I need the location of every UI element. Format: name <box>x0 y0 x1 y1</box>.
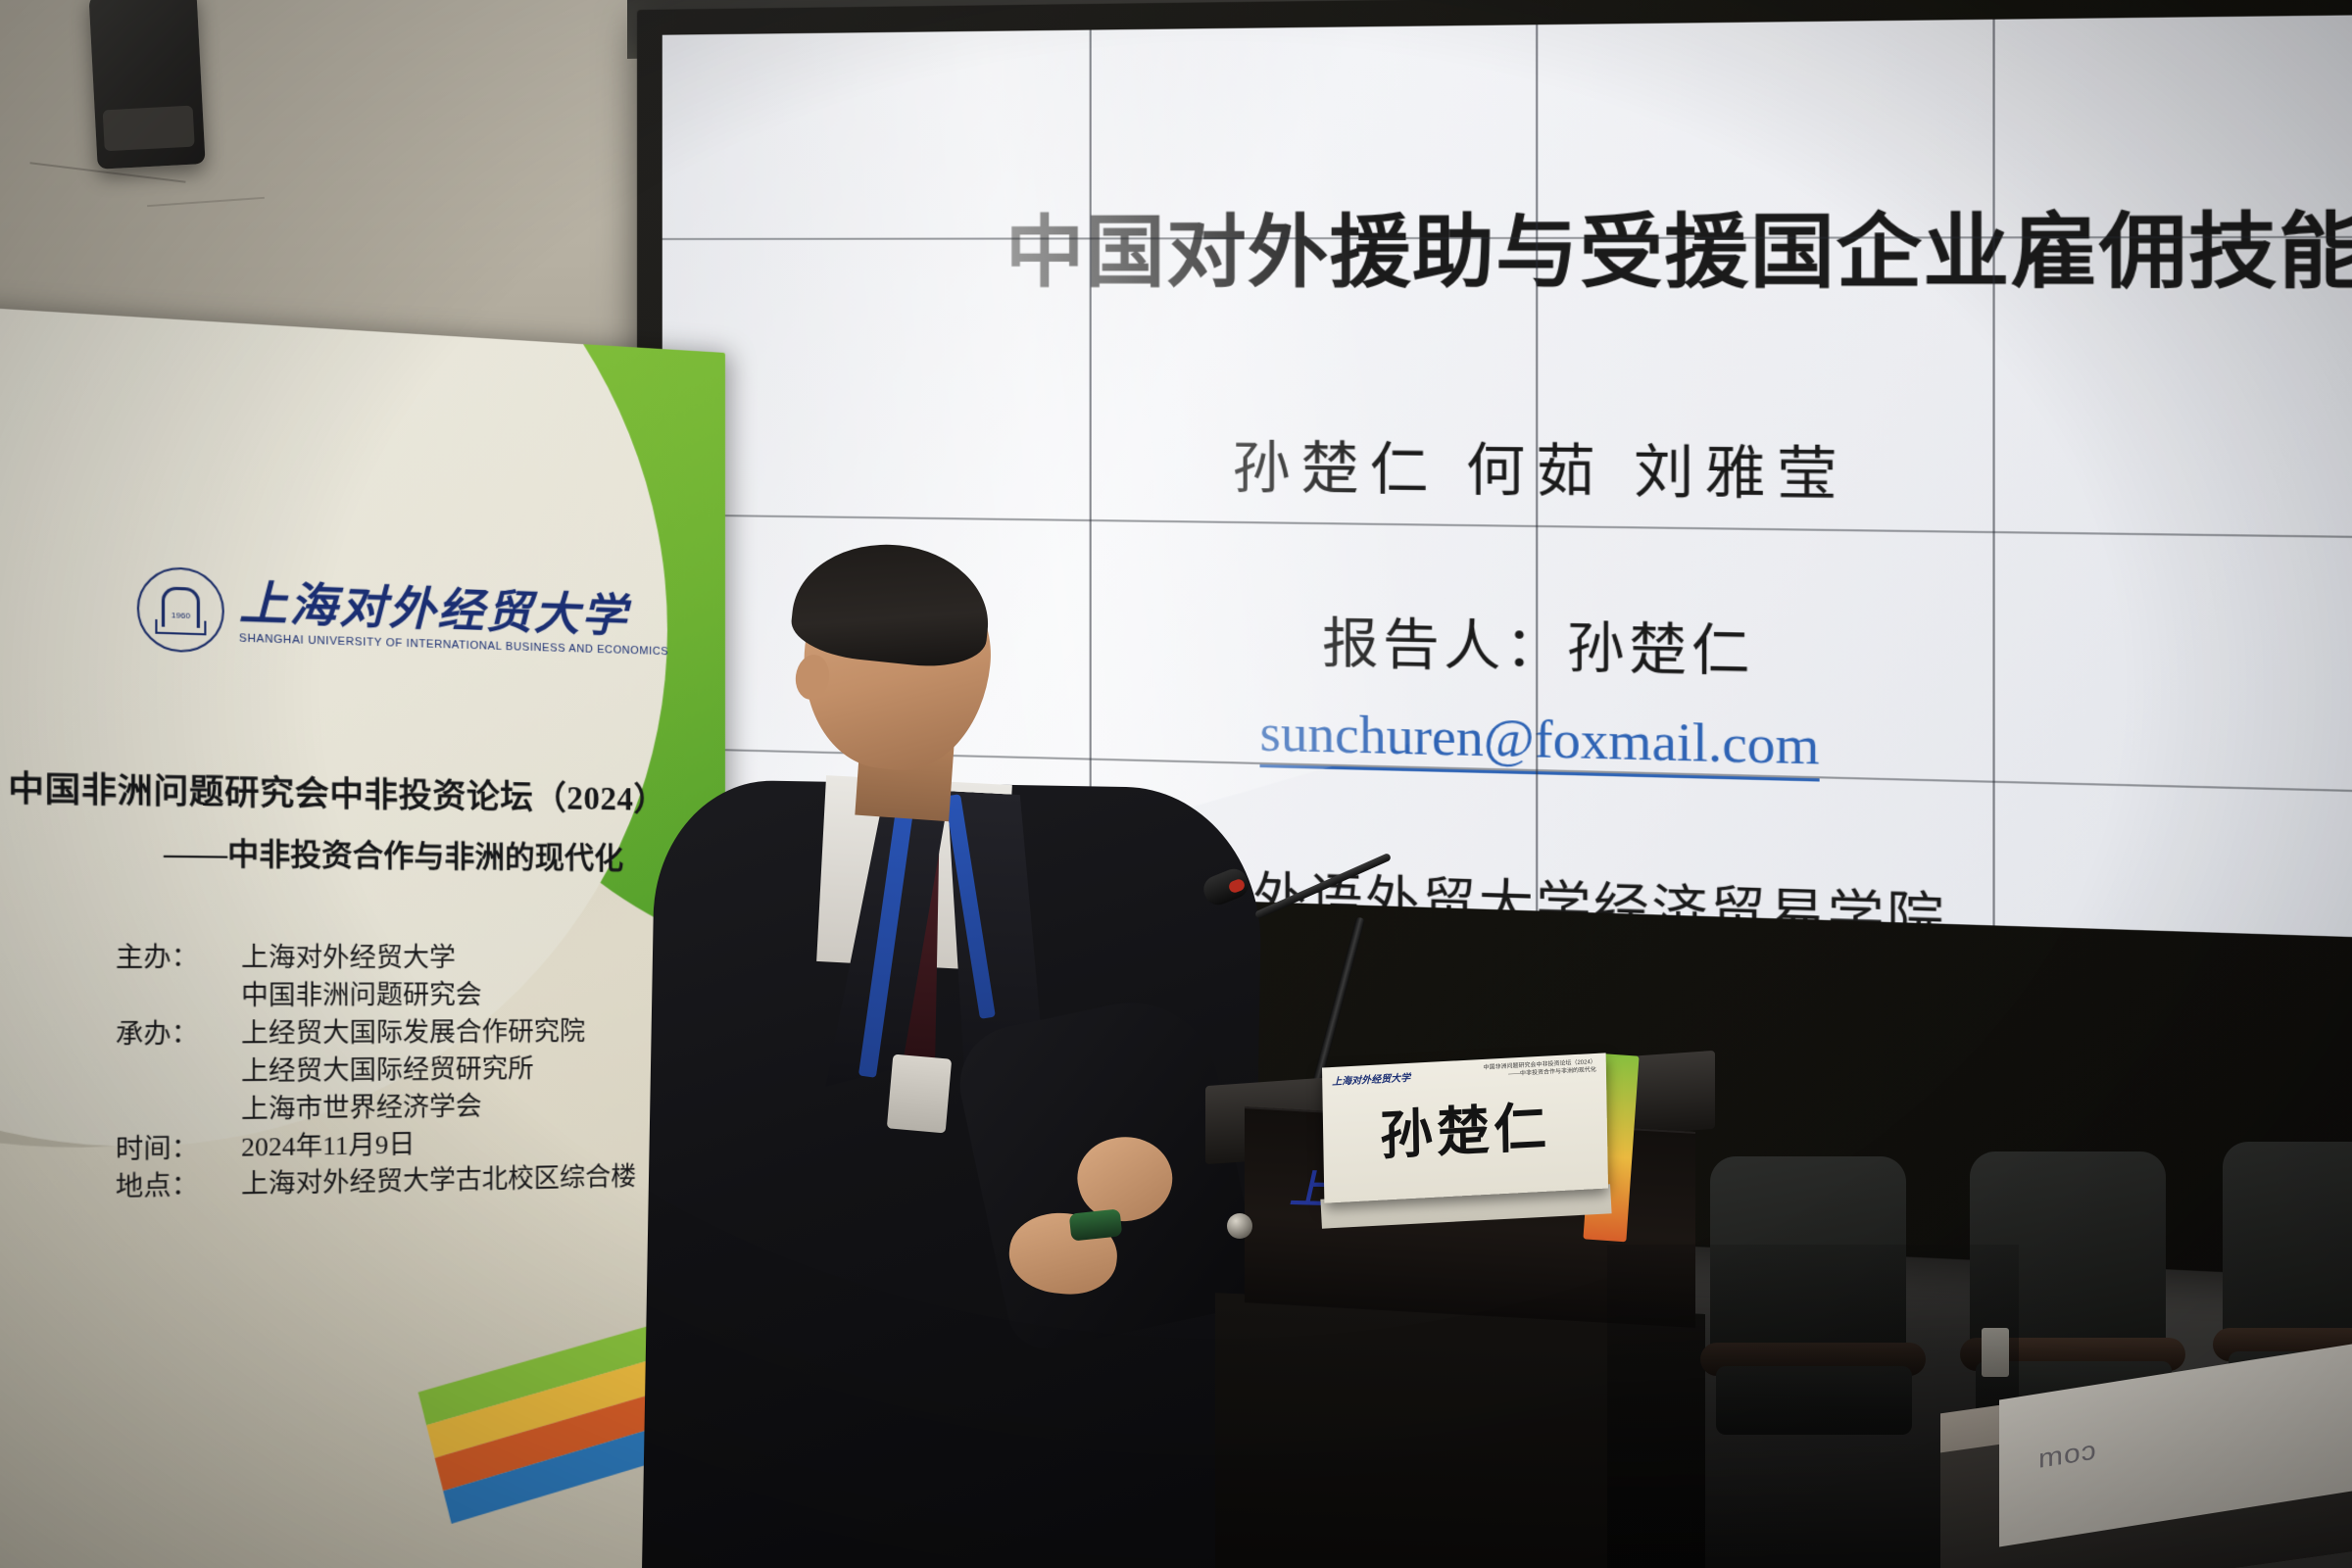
banner-detail-value: 上经贸大国际经贸研究所 <box>241 1050 687 1091</box>
presentation-room-photo: 中国对外援助与受援国企业雇佣技能 孙楚仁 何茹 刘雅莹 报告人：孙楚仁 sunc… <box>0 0 2352 1568</box>
presentation-clicker[interactable] <box>1069 1208 1123 1241</box>
banner-detail-value: 中国非洲问题研究会 <box>241 977 687 1015</box>
banner-detail-key: 主办： <box>116 939 241 977</box>
banner-detail-row: 承办：上经贸大国际发展合作研究院 <box>116 1013 687 1054</box>
university-seal-icon: 1960 <box>137 565 224 653</box>
rollup-banner: 1960 上海对外经贸大学 SHANGHAI UNIVERSITY OF INT… <box>0 305 725 1568</box>
banner-detail-key: 承办： <box>116 1015 241 1054</box>
banner-detail-value: 上海对外经贸大学古北校区综合楼 <box>241 1158 687 1204</box>
banner-detail-row: 主办：上海对外经贸大学 <box>116 939 687 977</box>
slide-title: 中国对外援助与受援国企业雇佣技能 <box>1005 186 2352 306</box>
banner-detail-key: 时间： <box>116 1129 241 1169</box>
chair-back <box>2223 1142 2352 1357</box>
banner-detail-value: 上海对外经贸大学 <box>241 940 687 978</box>
speaker-person <box>686 549 1294 1568</box>
banner-subtitle: ——中非投资合作与非洲的现代化 <box>73 826 707 878</box>
nameplate-logo: 上海对外经贸大学 <box>1332 1069 1410 1088</box>
seal-year: 1960 <box>171 611 190 620</box>
slide-email-link[interactable]: sunchuren@foxmail.com <box>1260 704 1820 781</box>
banner-body: 1960 上海对外经贸大学 SHANGHAI UNIVERSITY OF INT… <box>0 305 725 1568</box>
slide-authors: 孙楚仁 何茹 刘雅莹 <box>1232 422 1848 512</box>
banner-detail-row: 主办：中国非洲问题研究会 <box>116 977 687 1016</box>
banner-detail-key: 地点： <box>116 1167 241 1207</box>
nameplate-event-info: 中国非洲问题研究会中非投资论坛（2024） ——中非投资合作与非洲的现代化 <box>1484 1059 1596 1081</box>
podium-knob[interactable] <box>1227 1213 1252 1239</box>
slide-presenter: 报告人：孙楚仁 <box>1322 599 1754 688</box>
speaker-badge <box>887 1054 952 1134</box>
speaker-nameplate: 上海对外经贸大学 中国非洲问题研究会中非投资论坛（2024） ——中非投资合作与… <box>1322 1053 1608 1202</box>
nameplate-name: 孙楚仁 <box>1322 1080 1607 1172</box>
banner-detail-list: 主办：上海对外经贸大学主办：中国非洲问题研究会承办：上经贸大国际发展合作研究院承… <box>116 939 687 1207</box>
wall-speaker-icon <box>88 0 205 170</box>
banner-university-name-cn: 上海对外经贸大学 <box>239 579 668 640</box>
banner-detail-value: 上经贸大国际发展合作研究院 <box>241 1013 687 1053</box>
